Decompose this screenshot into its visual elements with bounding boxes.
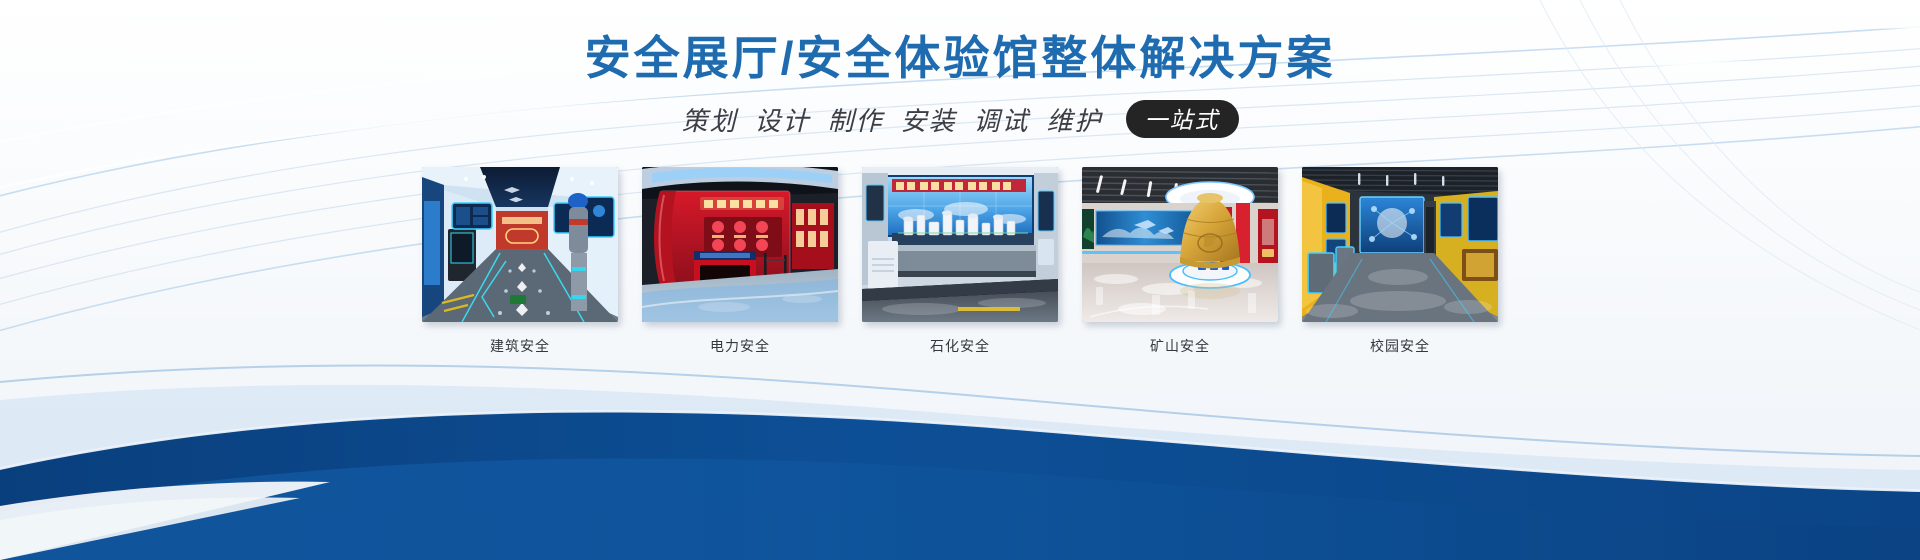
gallery-card-construction[interactable]: 建筑安全 xyxy=(422,167,618,356)
subtitle-word-1: 策划 xyxy=(681,101,737,138)
card-gallery: 建筑安全 xyxy=(0,167,1920,356)
scene-led-screen-model-icon xyxy=(862,167,1058,322)
scene-campus-corridor-icon xyxy=(1302,167,1498,322)
card-caption: 校园安全 xyxy=(1302,336,1498,356)
subtitle-row: 策划 设计 制作 安装 调试 维护 一站式 xyxy=(0,100,1920,138)
thumb-power[interactable] xyxy=(642,167,838,322)
page-title: 安全展厅/安全体验馆整体解决方案 xyxy=(0,22,1920,88)
promo-banner: 安全展厅/安全体验馆整体解决方案 策划 设计 制作 安装 调试 维护 一站式 xyxy=(0,0,1920,560)
gallery-card-power[interactable]: 电力安全 xyxy=(642,167,838,356)
scene-red-fire-hall-icon xyxy=(642,167,838,322)
card-caption: 石化安全 xyxy=(862,336,1058,356)
gallery-card-campus[interactable]: 校园安全 xyxy=(1302,167,1498,356)
card-caption: 电力安全 xyxy=(642,336,838,356)
scene-blue-corridor-icon xyxy=(422,167,618,322)
one-stop-badge: 一站式 xyxy=(1126,100,1239,138)
card-caption: 建筑安全 xyxy=(422,336,618,356)
scene-golden-bell-atrium-icon xyxy=(1082,167,1278,322)
gallery-card-mining[interactable]: 矿山安全 xyxy=(1082,167,1278,356)
subtitle-word-3: 制作 xyxy=(827,101,883,138)
subtitle-word-4: 安装 xyxy=(901,101,957,138)
subtitle-word-5: 调试 xyxy=(974,101,1030,138)
card-caption: 矿山安全 xyxy=(1082,336,1278,356)
subtitle-word-6: 维护 xyxy=(1047,101,1103,138)
thumb-construction[interactable] xyxy=(422,167,618,322)
subtitle-word-2: 设计 xyxy=(754,101,810,138)
thumb-campus[interactable] xyxy=(1302,167,1498,322)
thumb-mining[interactable] xyxy=(1082,167,1278,322)
thumb-petrochemical[interactable] xyxy=(862,167,1058,322)
gallery-card-petrochemical[interactable]: 石化安全 xyxy=(862,167,1058,356)
